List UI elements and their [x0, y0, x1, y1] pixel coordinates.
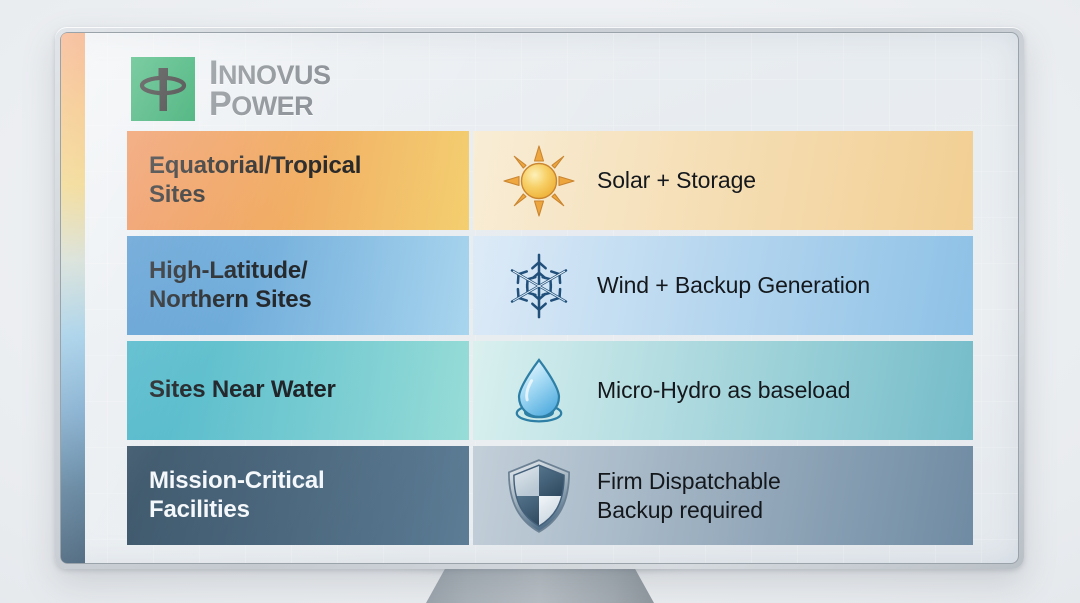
row-label-text: Mission-CriticalFacilities	[149, 467, 325, 525]
left-accent-gradient-bar	[61, 33, 85, 563]
row-label-mission-critical: Mission-CriticalFacilities	[127, 446, 469, 545]
shield-icon	[491, 458, 587, 534]
row-label-text: High-Latitude/Northern Sites	[149, 257, 312, 315]
slide-content: INNOVUS POWER Equatorial/TropicalSites	[127, 33, 1018, 563]
monitor-stand	[426, 566, 654, 603]
matrix-row[interactable]: Mission-CriticalFacilities	[127, 446, 973, 545]
brand-wordmark: INNOVUS POWER	[209, 58, 330, 121]
snowflake-icon	[491, 249, 587, 323]
row-solution-text: Wind + Backup Generation	[597, 271, 870, 299]
brand-power-rest: OWER	[231, 91, 313, 121]
row-body-equatorial-tropical: Solar + Storage	[473, 131, 973, 230]
row-label-sites-near-water: Sites Near Water	[127, 341, 469, 440]
brand-innovus-rest: NNOVUS	[218, 60, 331, 90]
brand-line-power: POWER	[209, 89, 330, 120]
matrix-row[interactable]: Equatorial/TropicalSites	[127, 131, 973, 230]
row-solution-text: Firm DispatchableBackup required	[597, 467, 781, 523]
row-body-sites-near-water: Micro-Hydro as baseload	[473, 341, 973, 440]
monitor-bezel: INNOVUS POWER Equatorial/TropicalSites	[55, 27, 1024, 569]
brand-header: INNOVUS POWER	[127, 47, 973, 131]
sun-icon	[491, 144, 587, 218]
brand-power-cap: P	[209, 85, 231, 123]
row-body-mission-critical: Firm DispatchableBackup required	[473, 446, 973, 545]
row-label-text: Sites Near Water	[149, 376, 336, 405]
matrix-row[interactable]: High-Latitude/Northern Sites	[127, 236, 973, 335]
monitor-screen: INNOVUS POWER Equatorial/TropicalSites	[61, 33, 1018, 563]
row-label-text: Equatorial/TropicalSites	[149, 152, 361, 210]
innovus-orbit-logo-icon	[131, 57, 195, 121]
site-strategy-matrix: Equatorial/TropicalSites	[127, 131, 973, 545]
row-solution-text: Solar + Storage	[597, 166, 756, 194]
scene-backdrop: INNOVUS POWER Equatorial/TropicalSites	[0, 0, 1080, 603]
water-drop-icon	[491, 354, 587, 428]
row-label-high-latitude-northern: High-Latitude/Northern Sites	[127, 236, 469, 335]
matrix-row[interactable]: Sites Near Water	[127, 341, 973, 440]
row-body-high-latitude-northern: Wind + Backup Generation	[473, 236, 973, 335]
row-solution-text: Micro-Hydro as baseload	[597, 376, 850, 404]
row-label-equatorial-tropical: Equatorial/TropicalSites	[127, 131, 469, 230]
